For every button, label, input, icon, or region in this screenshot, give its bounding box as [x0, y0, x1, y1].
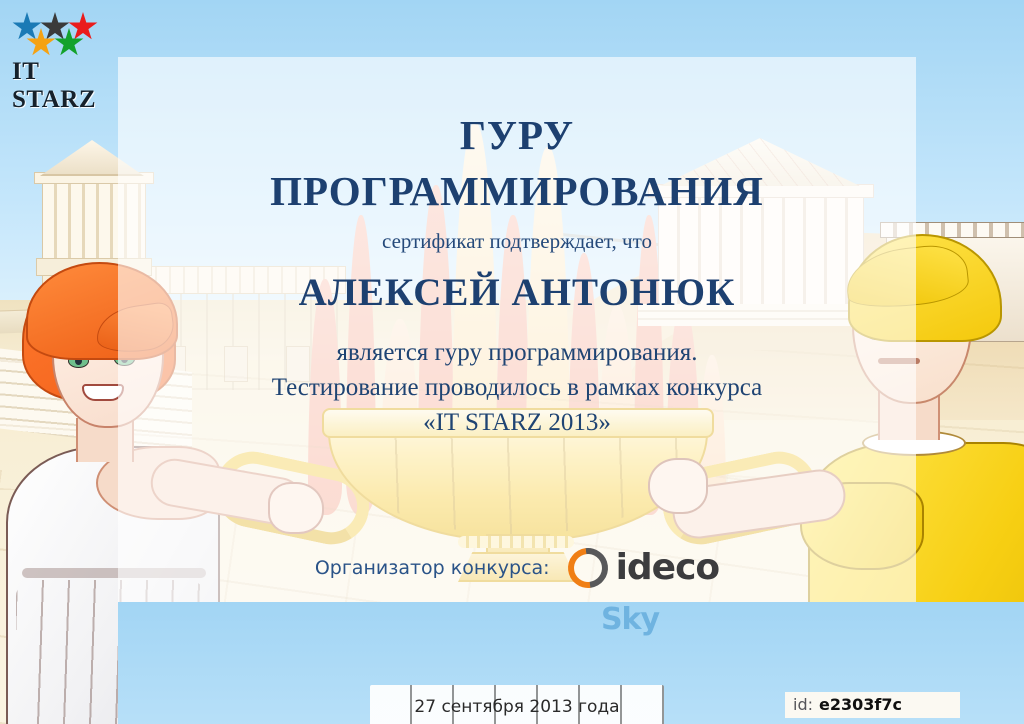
partner-skydns-logo[interactable]: SkyDNS [748, 606, 817, 641]
body-line-3: «IT STARZ 2013» [118, 405, 916, 440]
certificate-id-badge: id:e2303f7c [785, 692, 960, 718]
star-red-icon [68, 12, 98, 42]
certificate-canvas: IT STARZ ГУРУ ПРОГРАММИРОВАНИЯ сертифика… [0, 0, 1024, 724]
logo-wordmark: IT STARZ [12, 58, 120, 114]
partners-row: Партнеры: LINUX FORMAT Главное в мире Li… [118, 602, 916, 644]
recipient-name: АЛЕКСЕЙ АНТОНЮК [118, 270, 916, 315]
body-line-2: Тестирование проводилось в рамках конкур… [118, 370, 916, 405]
organizer-label: Организатор конкурса: [315, 557, 550, 579]
logo-stars [10, 10, 114, 58]
ideco-logo[interactable]: ideco [568, 547, 720, 588]
star-black-icon [40, 12, 70, 42]
title-line-1: ГУРУ [460, 112, 574, 158]
certificate-body: является гуру программирования. Тестиров… [118, 335, 916, 440]
certificate-subtitle: сертификат подтверждает, что [118, 229, 916, 254]
ideco-swoosh-icon [559, 539, 615, 595]
certificate-title: ГУРУ ПРОГРАММИРОВАНИЯ [118, 107, 916, 219]
certificate-content: ГУРУ ПРОГРАММИРОВАНИЯ сертификат подтвер… [118, 57, 916, 724]
title-line-2: ПРОГРАММИРОВАНИЯ [118, 163, 916, 219]
id-label: id: [793, 695, 813, 714]
it-starz-logo[interactable]: IT STARZ [10, 10, 120, 95]
id-value: e2303f7c [819, 695, 902, 714]
star-blue-icon [12, 12, 42, 42]
ideco-wordmark: ideco [616, 547, 720, 588]
organizer-row: Организатор конкурса: ideco [118, 547, 916, 588]
body-line-1: является гуру программирования. [118, 335, 916, 370]
